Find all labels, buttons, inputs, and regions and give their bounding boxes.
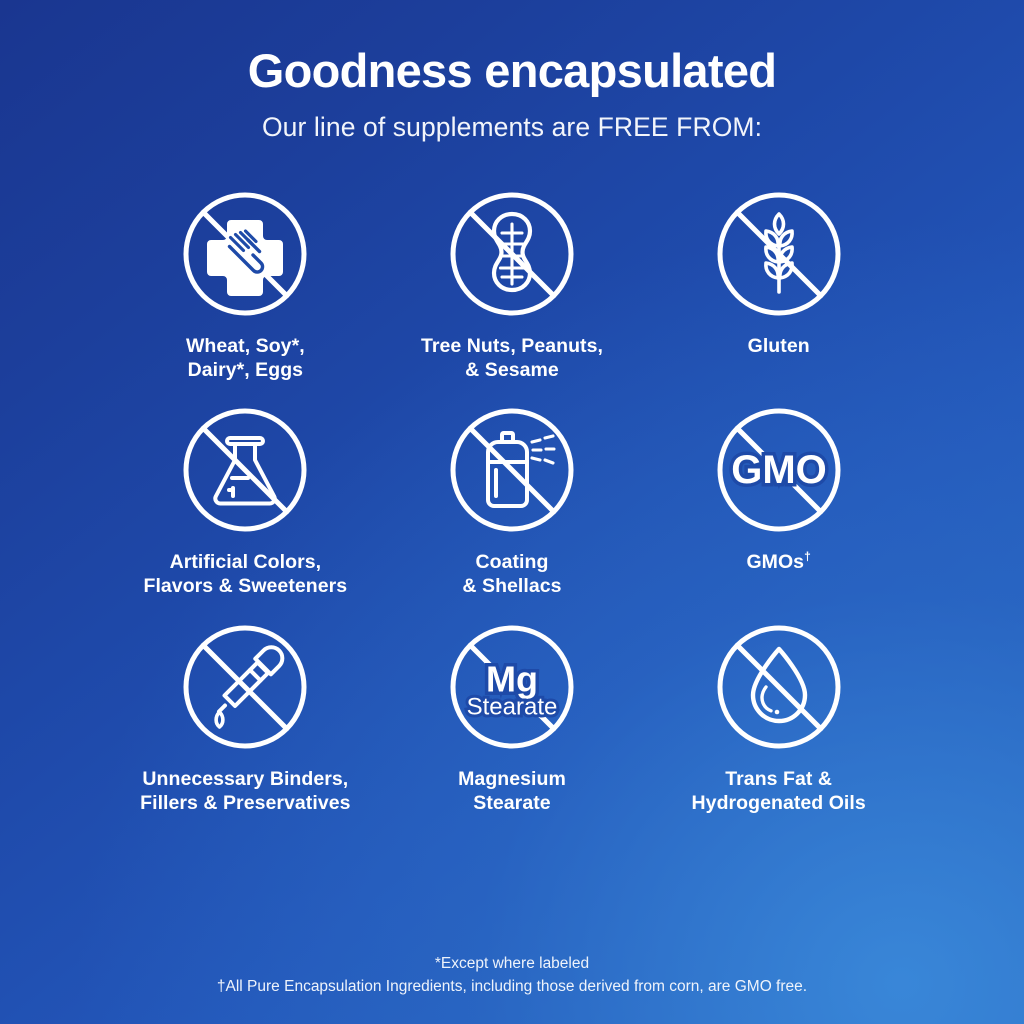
free-from-item-binders: Unnecessary Binders, Fillers & Preservat…: [112, 617, 379, 815]
gmo-label-text: GMOs: [746, 551, 804, 573]
free-from-grid: Wheat, Soy*, Dairy*, Eggs Tree Nuts, Pea…: [112, 184, 912, 815]
page-title: Goodness encapsulated: [0, 46, 1024, 97]
free-from-item-coating: Coating & Shellacs: [379, 400, 646, 598]
free-from-item-gluten: Gluten: [645, 184, 912, 382]
free-from-item-mg-stearate: Mg Stearate Magnesium Stearate: [379, 617, 646, 815]
stearate-icon-text: Stearate: [467, 693, 558, 720]
free-from-item-label: Unnecessary Binders, Fillers & Preservat…: [140, 767, 350, 815]
no-wheat-stalk-gluten-icon: [709, 184, 849, 324]
gmo-icon-text: GMO: [731, 448, 827, 492]
no-spray-can-coating-icon: [442, 400, 582, 540]
free-from-item-trans-fat: Trans Fat & Hydrogenated Oils: [645, 617, 912, 815]
free-from-item-label: Magnesium Stearate: [458, 767, 566, 815]
dagger-superscript: †: [804, 550, 811, 564]
page-subtitle: Our line of supplements are FREE FROM:: [0, 113, 1024, 142]
free-from-item-label: Coating & Shellacs: [462, 550, 561, 598]
free-from-item-label: Trans Fat & Hydrogenated Oils: [692, 767, 866, 815]
no-allergens-fork-cross-icon: [175, 184, 315, 324]
no-peanut-icon: [442, 184, 582, 324]
poster-header: Goodness encapsulated Our line of supple…: [0, 46, 1024, 142]
no-magnesium-stearate-icon: Mg Stearate: [442, 617, 582, 757]
no-oil-droplet-trans-fat-icon: [709, 617, 849, 757]
no-dropper-pipette-icon: [175, 617, 315, 757]
footnote-except-where-labeled: *Except where labeled: [0, 952, 1024, 975]
free-from-item-label: Artificial Colors, Flavors & Sweeteners: [143, 550, 347, 598]
no-chemical-flask-icon: [175, 400, 315, 540]
footnotes: *Except where labeled †All Pure Encapsul…: [0, 952, 1024, 999]
free-from-item-allergens: Wheat, Soy*, Dairy*, Eggs: [112, 184, 379, 382]
free-from-item-nuts: Tree Nuts, Peanuts, & Sesame: [379, 184, 646, 382]
free-from-item-label: GMOs†: [746, 550, 810, 574]
free-from-item-label: Gluten: [748, 334, 810, 358]
free-from-item-label: Wheat, Soy*, Dairy*, Eggs: [186, 334, 305, 382]
free-from-item-gmo: GMO GMOs†: [645, 400, 912, 598]
footnote-gmo-free: †All Pure Encapsulation Ingredients, inc…: [0, 975, 1024, 998]
no-gmo-icon: GMO: [709, 400, 849, 540]
free-from-item-label: Tree Nuts, Peanuts, & Sesame: [421, 334, 603, 382]
free-from-poster: Goodness encapsulated Our line of supple…: [0, 0, 1024, 1024]
free-from-item-artificial-colors: Artificial Colors, Flavors & Sweeteners: [112, 400, 379, 598]
